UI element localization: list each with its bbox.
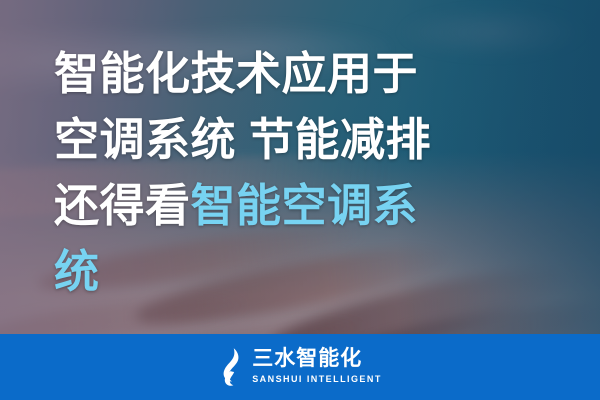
headline-line-1: 智能化技术应用于 xyxy=(54,41,554,107)
headline-line-2: 空调系统 节能减排 xyxy=(54,107,554,173)
headline-segment-2-1: 空调系统 节能减排 xyxy=(54,114,431,165)
water-drop-flame-icon xyxy=(218,348,243,386)
brand-logo: 三水智能化 SANSHUI INTELLIGENT xyxy=(0,334,600,400)
poster-headline: 智能化技术应用于空调系统 节能减排还得看智能空调系统 xyxy=(54,41,554,305)
headline-line-4: 统 xyxy=(54,239,554,305)
headline-segment-4-1: 统 xyxy=(54,246,100,297)
brand-name-en: SANSHUI INTELLIGENT xyxy=(252,372,382,386)
footer-brand-bar: 三水智能化 SANSHUI INTELLIGENT xyxy=(0,334,600,400)
headline-segment-3-1: 还得看 xyxy=(54,180,191,231)
headline-line-3: 还得看智能空调系 xyxy=(54,173,554,239)
poster-canvas: 智能化技术应用于空调系统 节能减排还得看智能空调系统 三水智能化 SANSHUI… xyxy=(0,0,600,400)
brand-logo-text: 三水智能化 SANSHUI INTELLIGENT xyxy=(252,348,382,386)
headline-segment-3-2: 智能空调系 xyxy=(191,180,419,231)
headline-segment-1-1: 智能化技术应用于 xyxy=(54,48,418,99)
brand-name-cn: 三水智能化 xyxy=(252,348,362,370)
